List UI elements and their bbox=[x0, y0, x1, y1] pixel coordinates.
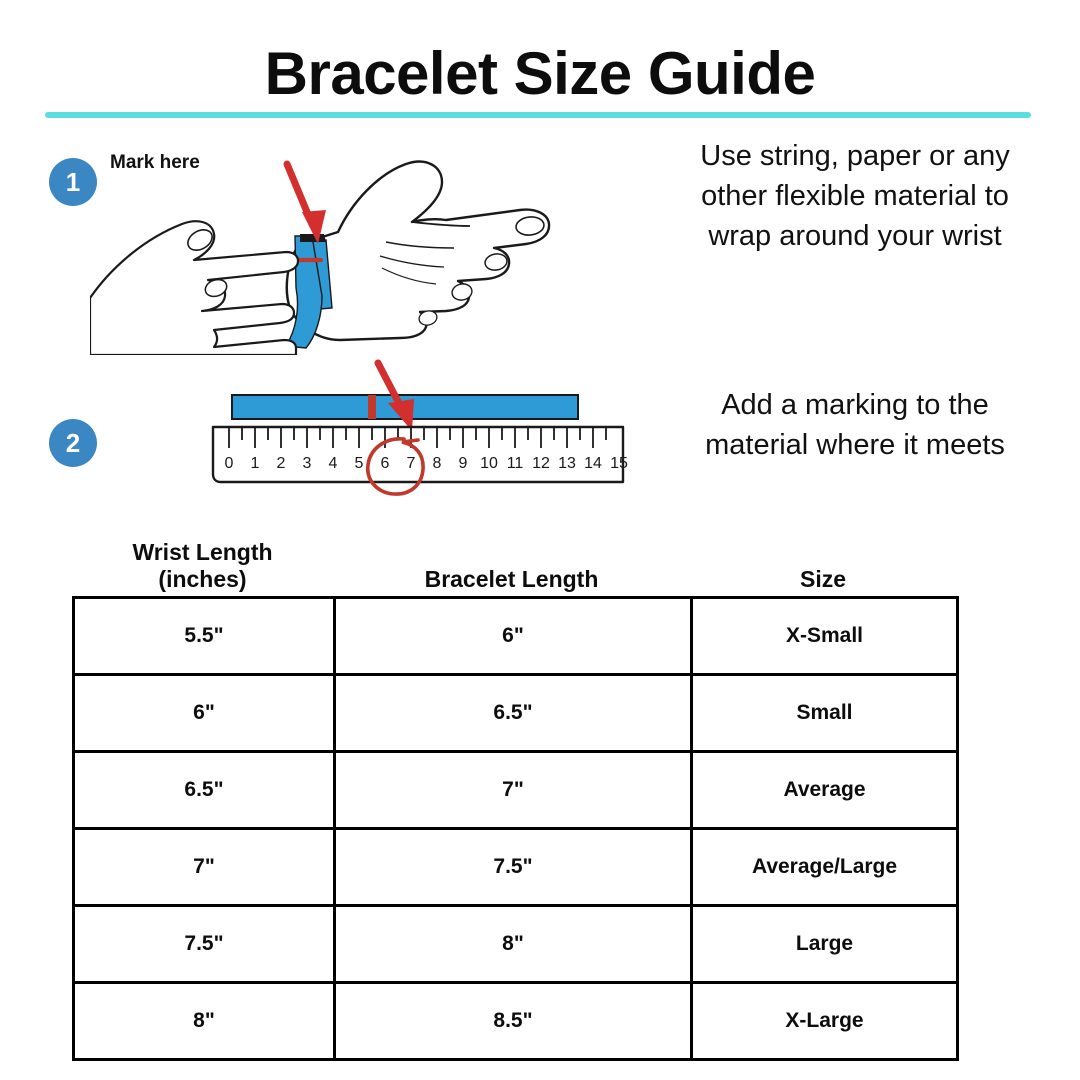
step-2-instruction: Add a marking to the material where it m… bbox=[700, 385, 1010, 465]
size-table: 5.5"6"X-Small6"6.5"Small6.5"7"Average7"7… bbox=[72, 596, 959, 1061]
size-table-headers: Wrist Length (inches) Bracelet Length Si… bbox=[72, 528, 956, 596]
ruler-tick-label: 15 bbox=[610, 455, 628, 472]
ruler-tick-label: 8 bbox=[433, 455, 442, 472]
column-header-wrist-length-line2: (inches) bbox=[72, 566, 333, 593]
column-header-wrist-length: Wrist Length (inches) bbox=[72, 539, 333, 596]
ruler-tick-label: 1 bbox=[251, 455, 260, 472]
table-cell-size: X-Large bbox=[692, 983, 958, 1060]
table-cell-bracelet-length: 6.5" bbox=[335, 675, 692, 752]
table-cell-wrist-length: 7.5" bbox=[74, 906, 335, 983]
step-badge-2-number: 2 bbox=[66, 430, 80, 456]
table-row: 6.5"7"Average bbox=[74, 752, 958, 829]
table-cell-wrist-length: 7" bbox=[74, 829, 335, 906]
table-cell-wrist-length: 8" bbox=[74, 983, 335, 1060]
ruler-tick-label: 2 bbox=[277, 455, 286, 472]
ruler-tick-label: 12 bbox=[532, 455, 550, 472]
table-cell-size: Large bbox=[692, 906, 958, 983]
table-cell-bracelet-length: 8.5" bbox=[335, 983, 692, 1060]
title-divider bbox=[45, 112, 1031, 118]
step-2-illustration: 0123456789101112131415 bbox=[190, 355, 650, 500]
table-row: 6"6.5"Small bbox=[74, 675, 958, 752]
step-badge-2: 2 bbox=[49, 419, 97, 467]
ruler-tick-label: 0 bbox=[225, 455, 234, 472]
ruler-tick-label: 11 bbox=[507, 455, 524, 472]
size-table-container: Wrist Length (inches) Bracelet Length Si… bbox=[72, 528, 956, 1061]
table-row: 7"7.5"Average/Large bbox=[74, 829, 958, 906]
table-cell-wrist-length: 6.5" bbox=[74, 752, 335, 829]
mark-here-annotation: Mark here bbox=[110, 152, 200, 174]
table-cell-wrist-length: 6" bbox=[74, 675, 335, 752]
page-title: Bracelet Size Guide bbox=[0, 42, 1080, 105]
table-cell-size: Average/Large bbox=[692, 829, 958, 906]
table-cell-bracelet-length: 7" bbox=[335, 752, 692, 829]
ruler-tick-label: 6 bbox=[381, 455, 390, 472]
table-row: 8"8.5"X-Large bbox=[74, 983, 958, 1060]
step-1-instruction: Use string, paper or any other flexible … bbox=[700, 136, 1010, 256]
ruler-tick-label: 4 bbox=[329, 455, 338, 472]
table-cell-bracelet-length: 6" bbox=[335, 598, 692, 675]
table-cell-size: X-Small bbox=[692, 598, 958, 675]
column-header-bracelet-length: Bracelet Length bbox=[333, 566, 690, 596]
column-header-size: Size bbox=[690, 566, 956, 596]
table-cell-size: Small bbox=[692, 675, 958, 752]
ruler-tick-label: 14 bbox=[584, 455, 602, 472]
column-header-wrist-length-line1: Wrist Length bbox=[72, 539, 333, 566]
ruler-tick-label: 7 bbox=[407, 455, 416, 472]
ruler-measure-drawing: 0123456789101112131415 bbox=[190, 355, 650, 500]
step-badge-1-number: 1 bbox=[66, 169, 80, 195]
ruler-tick-label: 13 bbox=[558, 455, 576, 472]
table-cell-size: Average bbox=[692, 752, 958, 829]
table-cell-bracelet-length: 8" bbox=[335, 906, 692, 983]
table-row: 7.5"8"Large bbox=[74, 906, 958, 983]
ruler-tick-label: 5 bbox=[355, 455, 364, 472]
table-row: 5.5"6"X-Small bbox=[74, 598, 958, 675]
ruler-tick-label: 9 bbox=[459, 455, 468, 472]
table-cell-wrist-length: 5.5" bbox=[74, 598, 335, 675]
ruler-tick-label: 10 bbox=[480, 455, 498, 472]
ruler-tick-label: 3 bbox=[303, 455, 312, 472]
table-cell-bracelet-length: 7.5" bbox=[335, 829, 692, 906]
